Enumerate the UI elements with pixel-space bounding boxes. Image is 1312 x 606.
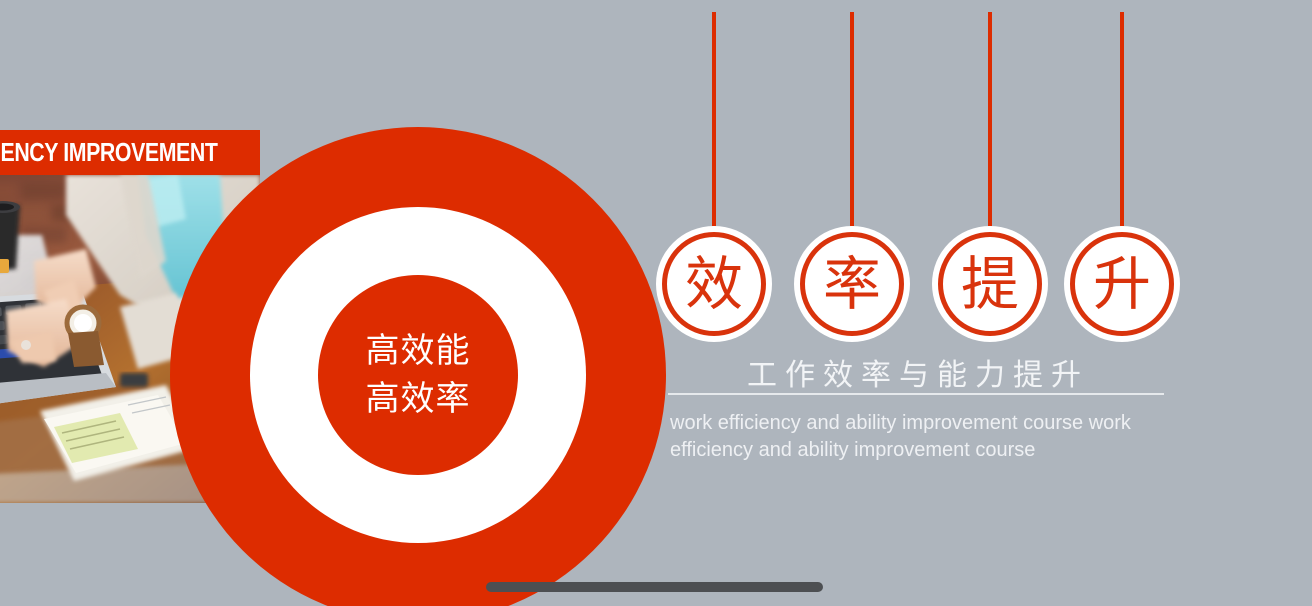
page-title: 工作效率与能力提升 <box>668 358 1168 394</box>
badge-label: 效 <box>685 255 743 313</box>
bottom-progress-bar[interactable] <box>486 582 823 592</box>
badge-ring: 效 <box>662 232 766 336</box>
page-subtitle: work efficiency and ability improvement … <box>670 410 1180 464</box>
banner-title: ICIENCY IMPROVEMENT <box>0 130 222 175</box>
target-text-line-2: 高效率 <box>366 375 471 423</box>
target-graphic: 高效能 高效率 <box>170 127 666 606</box>
badge-ring: 升 <box>1070 232 1174 336</box>
hanging-badge-1[interactable]: 效 <box>656 12 772 342</box>
hanging-badge-2[interactable]: 率 <box>794 12 910 342</box>
badge-disc: 升 <box>1064 226 1180 342</box>
badge-ring: 率 <box>800 232 904 336</box>
badge-wire-icon <box>988 12 992 226</box>
badge-label: 率 <box>823 255 881 313</box>
target-text-line-1: 高效能 <box>366 327 471 375</box>
badge-disc: 效 <box>656 226 772 342</box>
badge-wire-icon <box>1120 12 1124 226</box>
badge-ring: 提 <box>938 232 1042 336</box>
badge-label: 升 <box>1093 255 1151 313</box>
badge-disc: 提 <box>932 226 1048 342</box>
badge-label: 提 <box>961 255 1019 313</box>
hanging-badge-3[interactable]: 提 <box>932 12 1048 342</box>
badge-wire-icon <box>850 12 854 226</box>
slide-canvas: ICIENCY IMPROVEMENT 高效能 高效率 效 率 提 <box>0 0 1312 606</box>
badge-disc: 率 <box>794 226 910 342</box>
hanging-badge-4[interactable]: 升 <box>1064 12 1180 342</box>
title-underline <box>668 393 1164 395</box>
target-inner-disc: 高效能 高效率 <box>318 275 518 475</box>
badge-wire-icon <box>712 12 716 226</box>
